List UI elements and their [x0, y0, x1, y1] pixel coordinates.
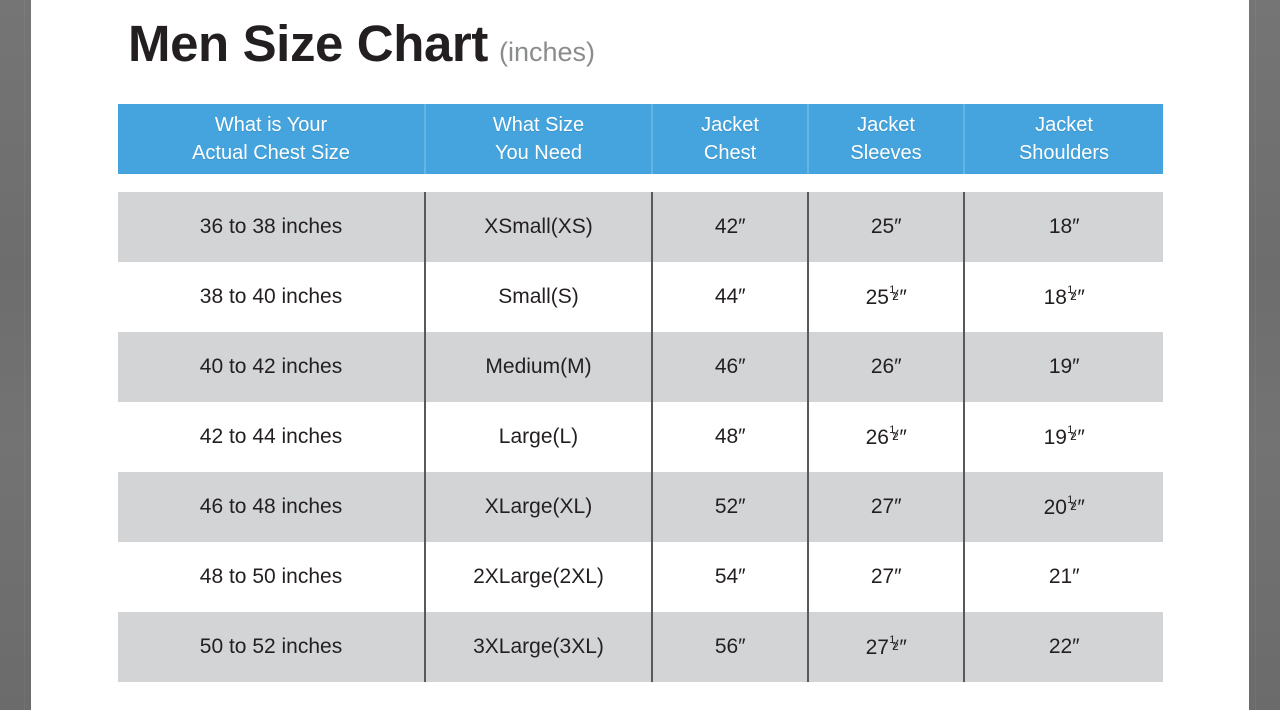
measure-whole: 25 [866, 286, 889, 309]
measure-whole: 22 [1049, 635, 1072, 658]
cell-size-you-need: Medium(M) [425, 332, 652, 402]
header-row: What is Your Actual Chest Size What Size… [118, 104, 1163, 174]
page-title: Men Size Chart (inches) [128, 18, 595, 69]
cell-jacket-chest: 56″ [652, 612, 808, 682]
page-title-units: (inches) [499, 39, 595, 66]
cell-size-you-need: XSmall(XS) [425, 192, 652, 262]
table-row: 36 to 38 inchesXSmall(XS)42″25″18″ [118, 192, 1163, 262]
page-title-main: Men Size Chart [128, 18, 488, 69]
header-line-1: What is Your [215, 114, 327, 136]
slide-stage: Men Size Chart (inches) What is Your Act… [0, 0, 1280, 710]
table-row: 48 to 50 inches2XLarge(2XL)54″27″21″ [118, 542, 1163, 612]
cell-jacket-shoulders: 19″ [964, 332, 1163, 402]
header-line-1: Jacket [1035, 114, 1093, 136]
header-line-2: Shoulders [1019, 142, 1109, 164]
cell-jacket-sleeves: 2712″ [808, 612, 964, 682]
cell-size-you-need: XLarge(XL) [425, 472, 652, 542]
cell-size-you-need: Small(S) [425, 262, 652, 332]
measure-whole: 21 [1049, 565, 1072, 588]
cell-jacket-sleeves: 2612″ [808, 402, 964, 472]
column-header-jacket-sleeves: Jacket Sleeves [808, 104, 964, 174]
table-row: 38 to 40 inchesSmall(S)44″2512″1812″ [118, 262, 1163, 332]
fraction-one-half: 12 [889, 424, 899, 444]
cell-jacket-sleeves: 25″ [808, 192, 964, 262]
inch-mark: ″ [899, 636, 906, 659]
inch-mark: ″ [899, 286, 906, 309]
inch-mark: ″ [1072, 565, 1079, 588]
inch-mark: ″ [1072, 635, 1079, 658]
cell-size-you-need: 2XLarge(2XL) [425, 542, 652, 612]
cell-jacket-shoulders: 22″ [964, 612, 1163, 682]
header-body-gap [118, 174, 1163, 192]
cell-actual-chest-size: 48 to 50 inches [118, 542, 425, 612]
measure-whole: 44 [715, 285, 738, 308]
table-row: 46 to 48 inchesXLarge(XL)52″27″2012″ [118, 472, 1163, 542]
cell-jacket-chest: 54″ [652, 542, 808, 612]
inch-mark: ″ [738, 425, 745, 448]
measure-whole: 20 [1044, 496, 1067, 519]
measure-whole: 25 [871, 215, 894, 238]
size-chart-table: What is Your Actual Chest Size What Size… [118, 104, 1163, 682]
letterbox-left [0, 0, 31, 710]
column-header-actual-chest-size: What is Your Actual Chest Size [118, 104, 425, 174]
inch-mark: ″ [1077, 426, 1084, 449]
inch-mark: ″ [1072, 355, 1079, 378]
table-row: 42 to 44 inchesLarge(L)48″2612″1912″ [118, 402, 1163, 472]
measure-whole: 46 [715, 355, 738, 378]
fraction-one-half: 12 [1067, 424, 1077, 444]
cell-jacket-chest: 42″ [652, 192, 808, 262]
inch-mark: ″ [894, 355, 901, 378]
measure-whole: 18 [1044, 286, 1067, 309]
table-row: 40 to 42 inchesMedium(M)46″26″19″ [118, 332, 1163, 402]
header-line-2: Actual Chest Size [192, 142, 350, 164]
header-line-1: Jacket [701, 114, 759, 136]
inch-mark: ″ [894, 495, 901, 518]
inch-mark: ″ [738, 635, 745, 658]
inch-mark: ″ [738, 215, 745, 238]
measure-whole: 42 [715, 215, 738, 238]
cell-actual-chest-size: 38 to 40 inches [118, 262, 425, 332]
inch-mark: ″ [899, 426, 906, 449]
measure-whole: 56 [715, 635, 738, 658]
letterbox-right [1249, 0, 1280, 710]
measure-whole: 52 [715, 495, 738, 518]
header-line-2: Sleeves [850, 142, 921, 164]
cell-actual-chest-size: 36 to 38 inches [118, 192, 425, 262]
table-row: 50 to 52 inches3XLarge(3XL)56″2712″22″ [118, 612, 1163, 682]
cell-jacket-chest: 52″ [652, 472, 808, 542]
cell-jacket-shoulders: 21″ [964, 542, 1163, 612]
measure-whole: 27 [866, 636, 889, 659]
cell-jacket-shoulders: 2012″ [964, 472, 1163, 542]
inch-mark: ″ [738, 565, 745, 588]
header-line-1: Jacket [857, 114, 915, 136]
inch-mark: ″ [738, 495, 745, 518]
inch-mark: ″ [894, 215, 901, 238]
inch-mark: ″ [1077, 496, 1084, 519]
column-header-jacket-shoulders: Jacket Shoulders [964, 104, 1163, 174]
inch-mark: ″ [738, 285, 745, 308]
cell-jacket-shoulders: 18″ [964, 192, 1163, 262]
measure-whole: 26 [866, 426, 889, 449]
measure-whole: 19 [1049, 355, 1072, 378]
measure-whole: 48 [715, 425, 738, 448]
cell-actual-chest-size: 40 to 42 inches [118, 332, 425, 402]
cell-actual-chest-size: 42 to 44 inches [118, 402, 425, 472]
cell-size-you-need: Large(L) [425, 402, 652, 472]
measure-whole: 19 [1044, 426, 1067, 449]
cell-jacket-sleeves: 27″ [808, 472, 964, 542]
inch-mark: ″ [894, 565, 901, 588]
cell-jacket-sleeves: 2512″ [808, 262, 964, 332]
column-header-jacket-chest: Jacket Chest [652, 104, 808, 174]
inch-mark: ″ [1072, 215, 1079, 238]
cell-jacket-shoulders: 1912″ [964, 402, 1163, 472]
measure-whole: 54 [715, 565, 738, 588]
cell-jacket-sleeves: 26″ [808, 332, 964, 402]
fraction-one-half: 12 [889, 634, 899, 654]
cell-size-you-need: 3XLarge(3XL) [425, 612, 652, 682]
fraction-one-half: 12 [1067, 494, 1077, 514]
measure-whole: 27 [871, 565, 894, 588]
table-body: 36 to 38 inchesXSmall(XS)42″25″18″38 to … [118, 174, 1163, 682]
cell-actual-chest-size: 50 to 52 inches [118, 612, 425, 682]
cell-jacket-chest: 46″ [652, 332, 808, 402]
column-header-size-you-need: What Size You Need [425, 104, 652, 174]
measure-whole: 27 [871, 495, 894, 518]
cell-jacket-chest: 44″ [652, 262, 808, 332]
header-line-2: You Need [495, 142, 582, 164]
header-line-1: What Size [493, 114, 584, 136]
cell-jacket-chest: 48″ [652, 402, 808, 472]
measure-whole: 26 [871, 355, 894, 378]
fraction-one-half: 12 [1067, 284, 1077, 304]
slide-content: Men Size Chart (inches) What is Your Act… [31, 0, 1249, 710]
header-line-2: Chest [704, 142, 756, 164]
measure-whole: 18 [1049, 215, 1072, 238]
cell-jacket-shoulders: 1812″ [964, 262, 1163, 332]
table-header: What is Your Actual Chest Size What Size… [118, 104, 1163, 174]
inch-mark: ″ [738, 355, 745, 378]
inch-mark: ″ [1077, 286, 1084, 309]
cell-actual-chest-size: 46 to 48 inches [118, 472, 425, 542]
fraction-one-half: 12 [889, 284, 899, 304]
cell-jacket-sleeves: 27″ [808, 542, 964, 612]
